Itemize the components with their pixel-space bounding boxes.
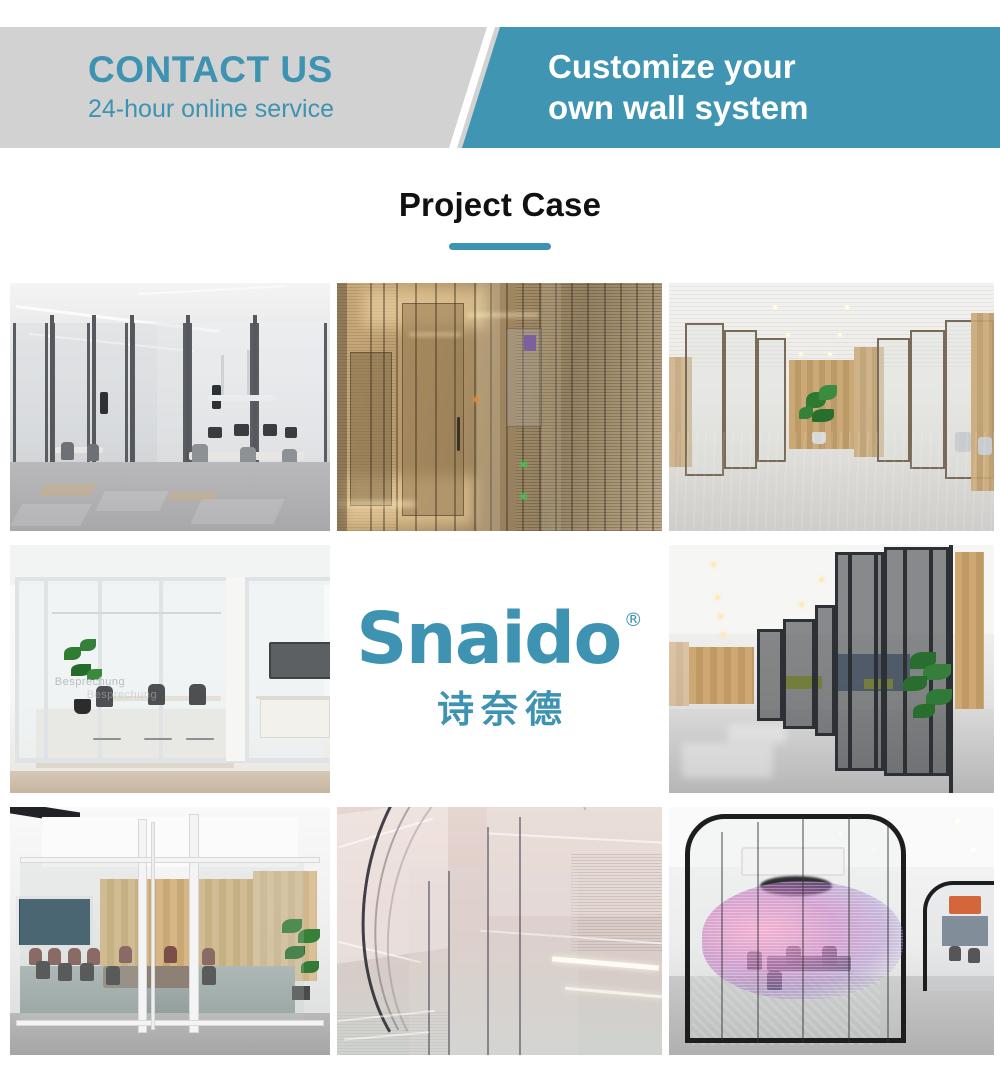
curved-glass-ceiling-track-image xyxy=(337,807,662,1055)
project-case-gallery: Besprechung Besprechung Snaido ® 诗奈德 xyxy=(10,283,990,1055)
page-title: Project Case xyxy=(0,185,1000,225)
curved-pod-gradient-film-image xyxy=(669,807,994,1055)
project-case-page: CONTACT US 24-hour online service Custom… xyxy=(0,0,1000,1068)
contact-us-title: CONTACT US xyxy=(88,49,333,90)
gallery-tile-1[interactable] xyxy=(10,283,330,531)
besprechung-meeting-room-image: Besprechung Besprechung xyxy=(10,545,330,793)
section-header: Project Case xyxy=(0,185,1000,250)
contact-us-subtitle: 24-hour online service xyxy=(88,93,334,126)
conference-room-white-frame-image xyxy=(10,807,330,1055)
glass-etch-label-reflection: Besprechung xyxy=(87,689,157,701)
wood-corridor-glass-partition-image xyxy=(669,283,994,531)
customize-headline-line2: own wall system xyxy=(548,88,808,128)
glass-etch-label: Besprechung xyxy=(55,676,125,688)
gallery-tile-5-logo: Snaido ® 诗奈德 xyxy=(337,545,662,793)
customize-headline-line1: Customize your xyxy=(548,47,796,87)
gallery-tile-3[interactable] xyxy=(669,283,994,531)
banner-contact-block: CONTACT US 24-hour online service xyxy=(88,27,334,148)
gallery-tile-8[interactable] xyxy=(337,807,662,1055)
gallery-tile-4[interactable]: Besprechung Besprechung xyxy=(10,545,330,793)
gallery-tile-2[interactable] xyxy=(337,283,662,531)
logo-chinese-name: 诗奈德 xyxy=(437,679,569,733)
logo-wordmark: Snaido xyxy=(356,605,621,672)
contact-banner: CONTACT US 24-hour online service Custom… xyxy=(0,27,1000,148)
title-underline-rule xyxy=(449,243,551,250)
office-glass-partition-image xyxy=(10,283,330,531)
banner-customize-block: Customize your own wall system xyxy=(548,27,808,148)
registered-trademark-icon: ® xyxy=(624,609,643,631)
gallery-tile-9[interactable] xyxy=(669,807,994,1055)
logo-wordmark-row: Snaido ® xyxy=(356,605,643,672)
bronze-louvre-partition-image xyxy=(337,283,662,531)
gallery-tile-7[interactable] xyxy=(10,807,330,1055)
dark-framed-office-corridor-image xyxy=(669,545,994,793)
gallery-tile-6[interactable] xyxy=(669,545,994,793)
brand-logo: Snaido ® 诗奈德 xyxy=(356,605,643,732)
